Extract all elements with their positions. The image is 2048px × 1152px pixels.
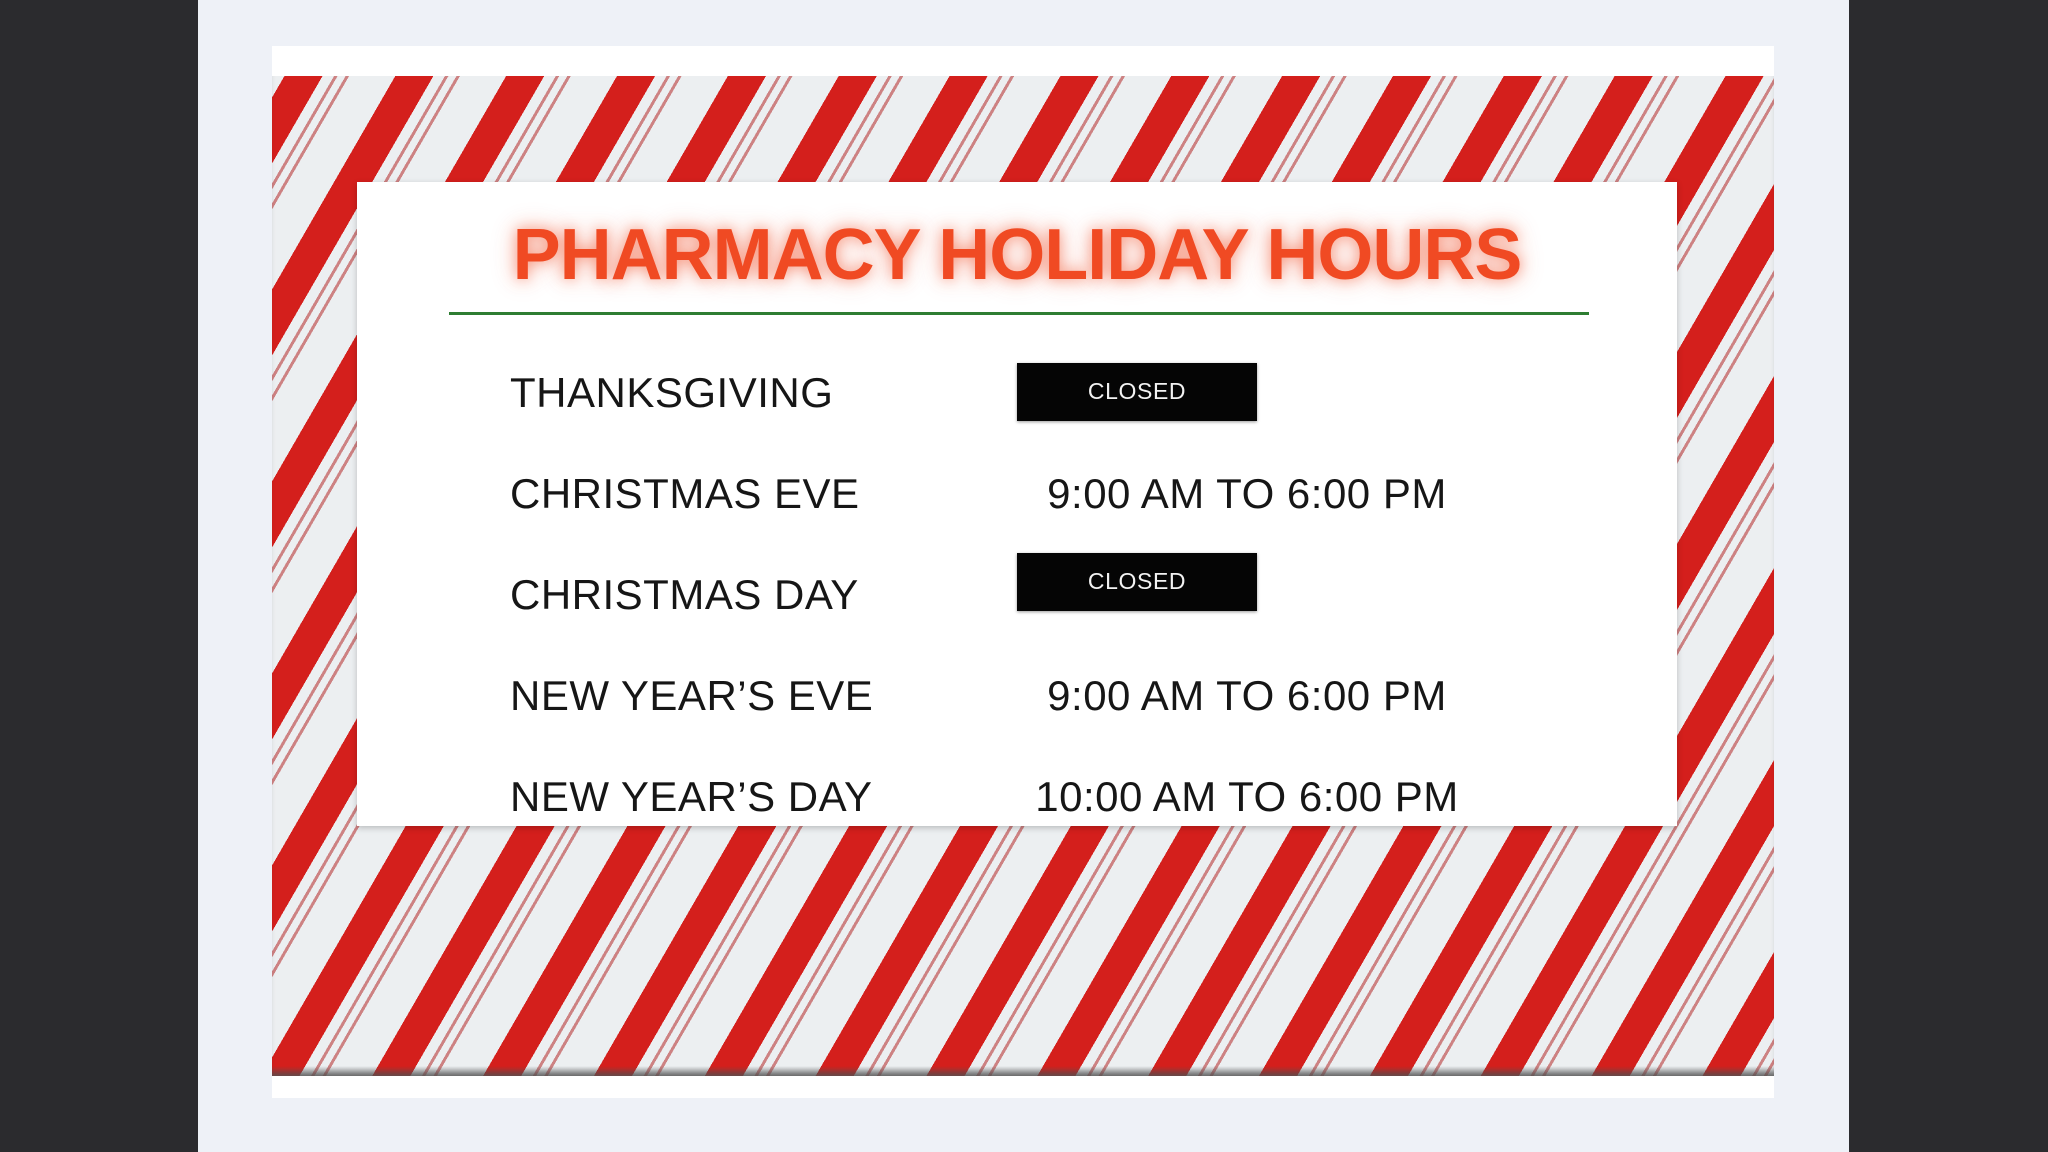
status-badge: CLOSED xyxy=(1017,553,1257,611)
table-row: NEW YEAR’S EVE 9:00 AM TO 6:00 PM xyxy=(357,645,1677,746)
holiday-name: NEW YEAR’S EVE xyxy=(510,672,873,720)
title-divider xyxy=(449,312,1589,315)
holiday-name: CHRISTMAS EVE xyxy=(510,470,860,518)
holiday-name: CHRISTMAS DAY xyxy=(510,571,859,619)
holiday-hours-poster: PHARMACY HOLIDAY HOURS THANKSGIVING CLOS… xyxy=(272,46,1774,1098)
holiday-hours-list: THANKSGIVING CLOSED CHRISTMAS EVE 9:00 A… xyxy=(357,342,1677,847)
status-badge: CLOSED xyxy=(1017,363,1257,421)
table-row: NEW YEAR’S DAY 10:00 AM TO 6:00 PM xyxy=(357,746,1677,847)
status-badge-label: CLOSED xyxy=(1088,378,1186,405)
table-row: CHRISTMAS EVE 9:00 AM TO 6:00 PM xyxy=(357,443,1677,544)
holiday-name: THANKSGIVING xyxy=(510,369,833,417)
holiday-hours: 10:00 AM TO 6:00 PM xyxy=(917,773,1577,821)
poster-inner-card: PHARMACY HOLIDAY HOURS THANKSGIVING CLOS… xyxy=(357,182,1677,826)
page-title: PHARMACY HOLIDAY HOURS xyxy=(357,214,1677,296)
page-root: PHARMACY HOLIDAY HOURS THANKSGIVING CLOS… xyxy=(0,0,2048,1152)
holiday-name: NEW YEAR’S DAY xyxy=(510,773,873,821)
status-badge-label: CLOSED xyxy=(1088,568,1186,595)
table-row: THANKSGIVING CLOSED xyxy=(357,342,1677,443)
holiday-hours: 9:00 AM TO 6:00 PM xyxy=(917,672,1577,720)
table-row: CHRISTMAS DAY CLOSED xyxy=(357,544,1677,645)
holiday-hours: 9:00 AM TO 6:00 PM xyxy=(917,470,1577,518)
